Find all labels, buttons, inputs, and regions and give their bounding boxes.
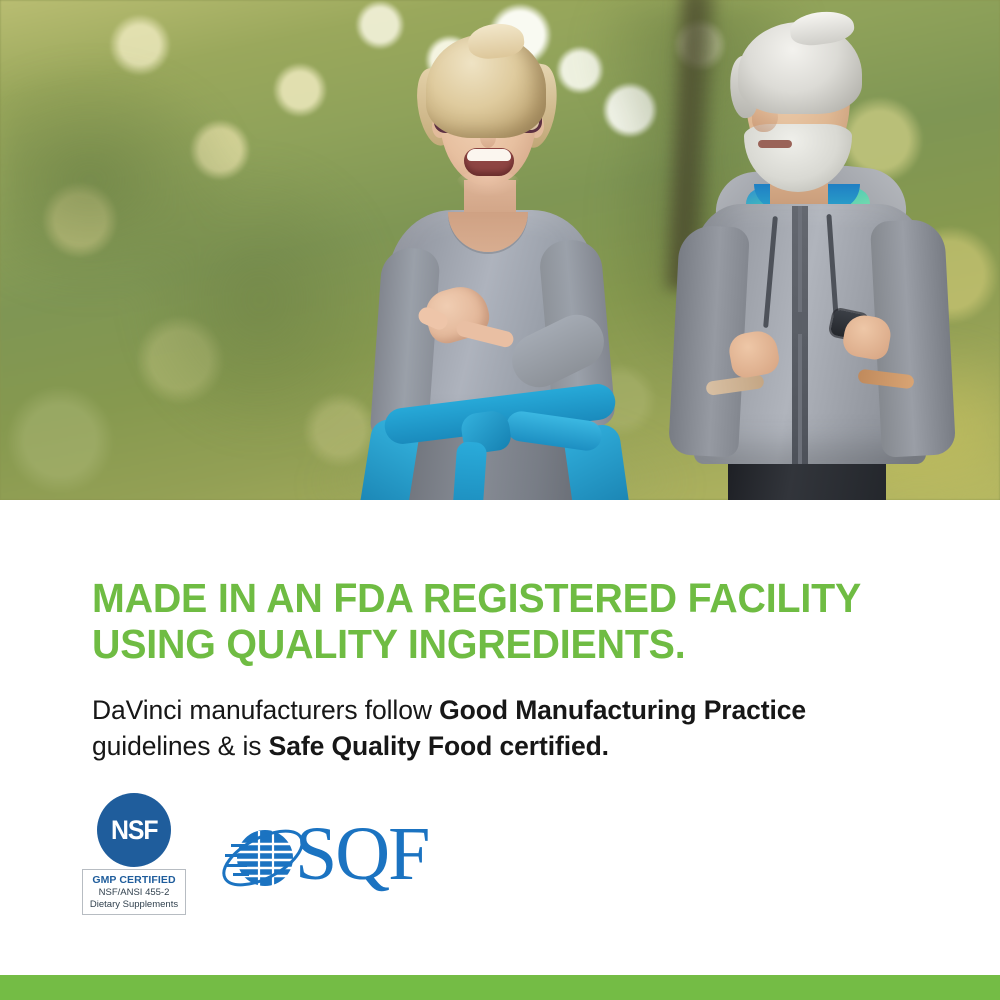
body-text-bold-2: Safe Quality Food certified. <box>269 731 609 761</box>
headline-line-1: MADE IN AN FDA REGISTERED FACILITY <box>92 575 861 621</box>
nsf-claim-line-1: GMP CERTIFIED <box>92 874 175 886</box>
page-title: MADE IN AN FDA REGISTERED FACILITYUSING … <box>92 575 889 667</box>
nsf-wordmark: NSF <box>111 815 157 846</box>
hero-photo <box>0 0 1000 500</box>
nsf-certification-logo: NSF GMP CERTIFIED NSF/ANSI 455-2 Dietary… <box>82 793 188 915</box>
footer-accent-bar <box>0 975 1000 1000</box>
body-text-bold-1: Good Manufacturing Practice <box>439 695 806 725</box>
sqf-wordmark: SQF <box>295 816 428 892</box>
jacket-tail <box>451 441 488 500</box>
promo-banner: MADE IN AN FDA REGISTERED FACILITYUSING … <box>0 0 1000 1000</box>
content-panel: MADE IN AN FDA REGISTERED FACILITYUSING … <box>0 500 1000 975</box>
headline-line-2: USING QUALITY INGREDIENTS. <box>92 621 685 667</box>
man-jogger <box>672 20 972 500</box>
nsf-claim-box: GMP CERTIFIED NSF/ANSI 455-2 Dietary Sup… <box>82 869 186 915</box>
nsf-registered-dot-icon <box>174 861 178 865</box>
sqf-globe-icon <box>215 814 307 902</box>
nsf-badge-circle: NSF <box>97 793 171 867</box>
man-mouth <box>758 140 792 148</box>
man-hoodie-zipper-pull <box>792 312 808 334</box>
woman-teeth <box>467 149 511 161</box>
body-text-part-1: DaVinci manufacturers follow <box>92 695 439 725</box>
woman-tied-jacket <box>366 386 628 500</box>
man-hoodie-zipper-track <box>798 206 802 464</box>
sqf-certification-logo: SQF <box>215 812 425 904</box>
nsf-claim-line-2: NSF/ANSI 455-2 <box>99 887 170 898</box>
body-text-part-2: guidelines & is <box>92 731 269 761</box>
woman-jogger <box>360 34 660 500</box>
nsf-claim-line-3: Dietary Supplements <box>90 899 178 910</box>
woman-smile <box>464 148 514 176</box>
body-copy: DaVinci manufacturers follow Good Manufa… <box>92 692 922 764</box>
